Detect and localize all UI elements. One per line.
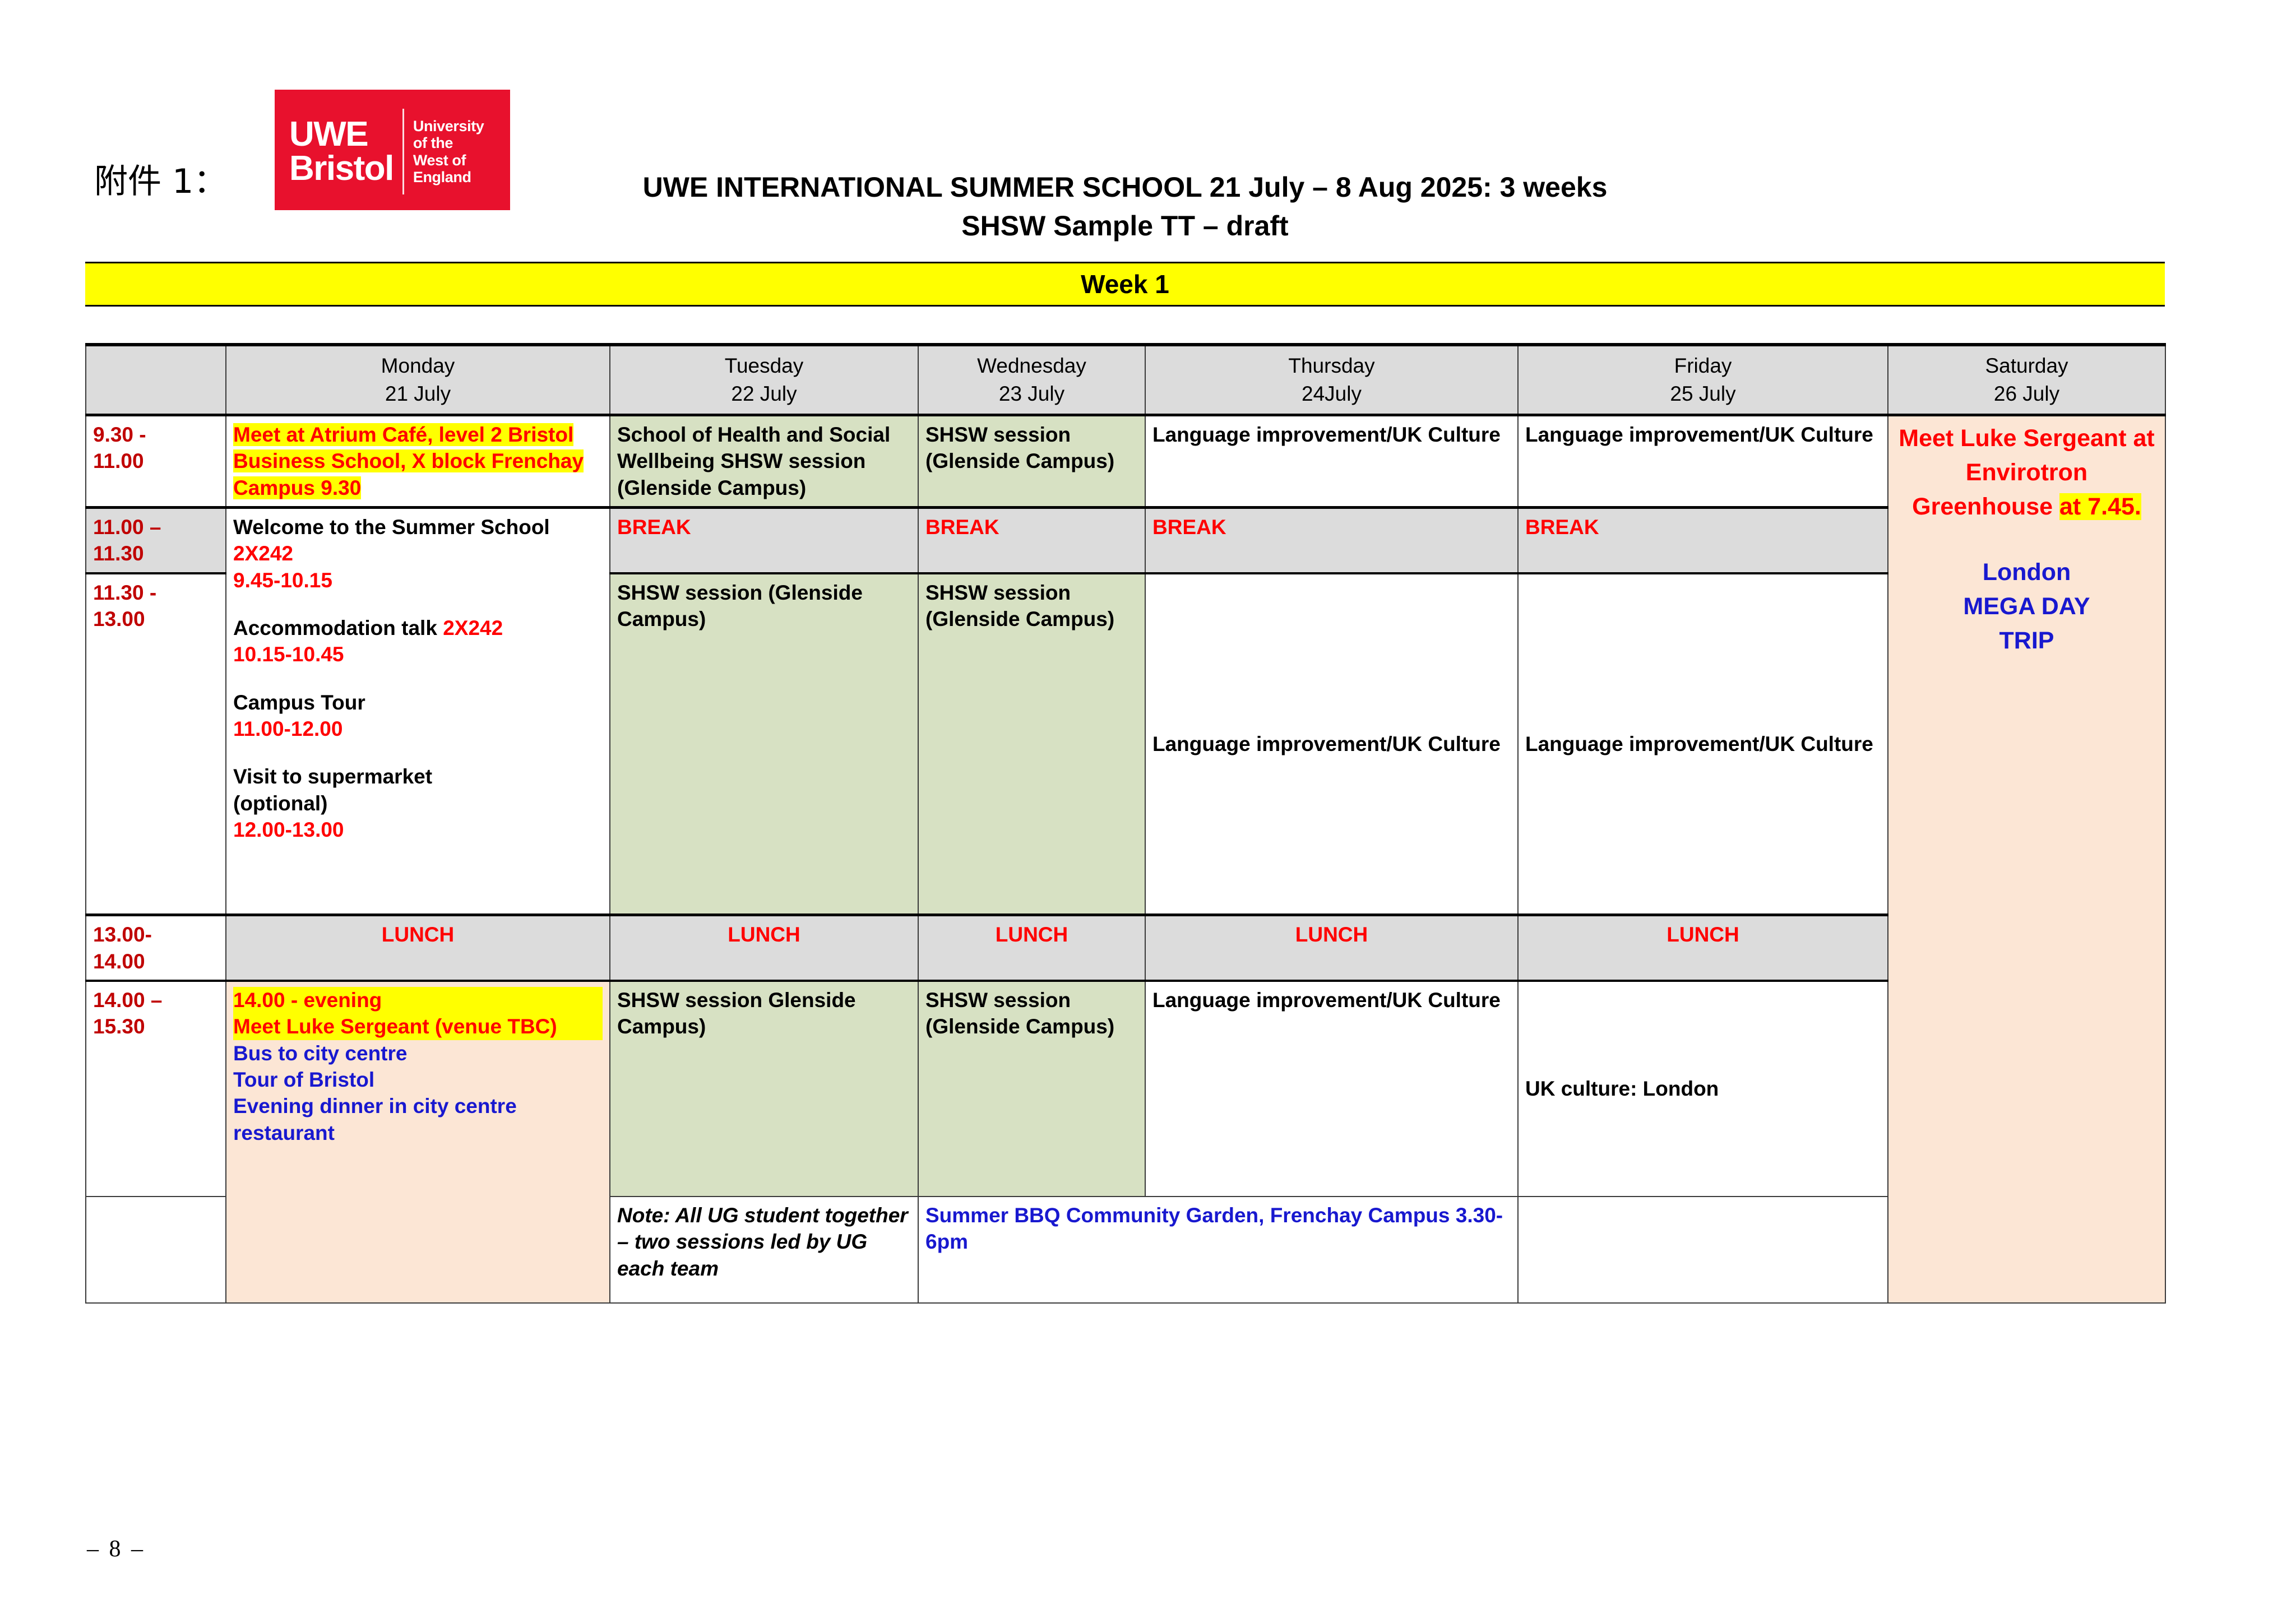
saturday-meet-text: Meet Luke Sergeant at Envirotron Greenho… [1895, 421, 2158, 524]
cell-monday-afternoon-programme: 14.00 - evening Meet Luke Sergeant (venu… [226, 981, 610, 1303]
cell-friday-1130: Language improvement/UK Culture [1518, 573, 1888, 915]
time-slot-1100-1130: 11.00 – 11.30 [86, 507, 226, 573]
monday-supermarket: Visit to supermarket [233, 763, 603, 790]
header-monday: Monday 21 July [226, 345, 610, 415]
cell-wednesday-break: BREAK [918, 507, 1145, 573]
cell-wednesday-1130: SHSW session (Glenside Campus) [918, 573, 1145, 915]
cell-tuesday-break: BREAK [610, 507, 918, 573]
cell-tuesday-1130: SHSW session (Glenside Campus) [610, 573, 918, 915]
cell-wednesday-1400: SHSW session (Glenside Campus) [918, 981, 1145, 1197]
cell-thursday-0930: Language improvement/UK Culture [1145, 415, 1518, 507]
timetable: Monday 21 July Tuesday 22 July Wednesday… [85, 343, 2166, 1304]
cell-tuesday-note: Note: All UG student together – two sess… [610, 1197, 918, 1303]
cell-friday-0930: Language improvement/UK Culture [1518, 415, 1888, 507]
cell-monday-lunch: LUNCH [226, 915, 610, 981]
cell-wednesday-lunch: LUNCH [918, 915, 1145, 981]
cell-monday-morning-programme: Welcome to the Summer School 2X242 9.45-… [226, 507, 610, 915]
header-saturday: Saturday 26 July [1888, 345, 2165, 415]
cell-notes-time-blank [86, 1197, 226, 1303]
cell-thursday-1400: Language improvement/UK Culture [1145, 981, 1518, 1197]
monday-afternoon-block: 14.00 - evening Meet Luke Sergeant (venu… [233, 987, 603, 1146]
title-line-1: UWE INTERNATIONAL SUMMER SCHOOL 21 July … [85, 168, 2165, 207]
table-row: 14.00 – 15.30 14.00 - evening Meet Luke … [86, 981, 2165, 1197]
cell-friday-lunch: LUNCH [1518, 915, 1888, 981]
monday-bus-city-centre: Bus to city centre [233, 1040, 603, 1066]
monday-accommodation-line: Accommodation talk 2X242 [233, 615, 603, 641]
page-title: UWE INTERNATIONAL SUMMER SCHOOL 21 July … [85, 168, 2165, 245]
monday-programme-block: Welcome to the Summer School 2X242 9.45-… [233, 514, 603, 843]
monday-campus-tour-time: 11.00-12.00 [233, 716, 603, 742]
cell-friday-1400: UK culture: London [1518, 981, 1888, 1197]
monday-tour-bristol: Tour of Bristol [233, 1066, 603, 1093]
spacer [233, 593, 603, 615]
header-time-col [86, 345, 226, 415]
cell-wednesday-note: Summer BBQ Community Garden, Frenchay Ca… [918, 1197, 1518, 1303]
document-page: 附件 1： UWE Bristol Universityof theWest o… [0, 0, 2296, 1623]
monday-evening-highlight-2: Meet Luke Sergeant (venue TBC) [233, 1013, 603, 1040]
header-tuesday: Tuesday 22 July [610, 345, 918, 415]
monday-welcome-time: 9.45-10.15 [233, 567, 603, 593]
table-row-break: 11.00 – 11.30 Welcome to the Summer Scho… [86, 507, 2165, 573]
header-wednesday: Wednesday 23 July [918, 345, 1145, 415]
spacer [233, 742, 603, 763]
title-line-2: SHSW Sample TT – draft [85, 207, 2165, 245]
cell-thursday-lunch: LUNCH [1145, 915, 1518, 981]
table-row: 9.30 - 11.00 Meet at Atrium Café, level … [86, 415, 2165, 507]
spacer [233, 668, 603, 689]
time-slot-1130-1300: 11.30 - 13.00 [86, 573, 226, 915]
week-banner: Week 1 [85, 262, 2165, 307]
cell-tuesday-0930: School of Health and Social Wellbeing SH… [610, 415, 918, 507]
cell-tuesday-1400: SHSW session Glenside Campus) [610, 981, 918, 1197]
cell-thursday-1130: Language improvement/UK Culture [1145, 573, 1518, 915]
logo-primary-line1: UWE [289, 118, 394, 152]
cell-thursday-break: BREAK [1145, 507, 1518, 573]
monday-campus-tour: Campus Tour [233, 689, 603, 716]
cell-saturday-allday: Meet Luke Sergeant at Envirotron Greenho… [1888, 415, 2165, 1303]
time-slot-1400-1530: 14.00 – 15.30 [86, 981, 226, 1197]
monday-accommodation-time: 10.15-10.45 [233, 641, 603, 667]
monday-supermarket-optional: (optional) [233, 790, 603, 817]
time-slot-1300-1400: 13.00- 14.00 [86, 915, 226, 981]
monday-supermarket-time: 12.00-13.00 [233, 817, 603, 843]
monday-welcome-line: Welcome to the Summer School 2X242 [233, 514, 603, 567]
monday-evening-dinner: Evening dinner in city centre restaurant [233, 1093, 603, 1146]
table-row-lunch: 13.00- 14.00 LUNCH LUNCH LUNCH LUNCH LUN… [86, 915, 2165, 981]
saturday-trip-text: London MEGA DAY TRIP [1895, 555, 2158, 658]
header-thursday: Thursday 24July [1145, 345, 1518, 415]
cell-friday-note-blank [1518, 1197, 1888, 1303]
table-header-row: Monday 21 July Tuesday 22 July Wednesday… [86, 345, 2165, 415]
monday-evening-highlight-1: 14.00 - evening [233, 987, 603, 1013]
saturday-time-highlight: at 7.45. [2059, 493, 2141, 520]
cell-monday-0930: Meet at Atrium Café, level 2 Bristol Bus… [226, 415, 610, 507]
header-friday: Friday 25 July [1518, 345, 1888, 415]
page-number: – 8 – [87, 1536, 145, 1562]
time-slot-0930-1100: 9.30 - 11.00 [86, 415, 226, 507]
cell-wednesday-0930: SHSW session (Glenside Campus) [918, 415, 1145, 507]
monday-meet-highlight: Meet at Atrium Café, level 2 Bristol Bus… [233, 423, 584, 499]
cell-tuesday-lunch: LUNCH [610, 915, 918, 981]
cell-friday-break: BREAK [1518, 507, 1888, 573]
